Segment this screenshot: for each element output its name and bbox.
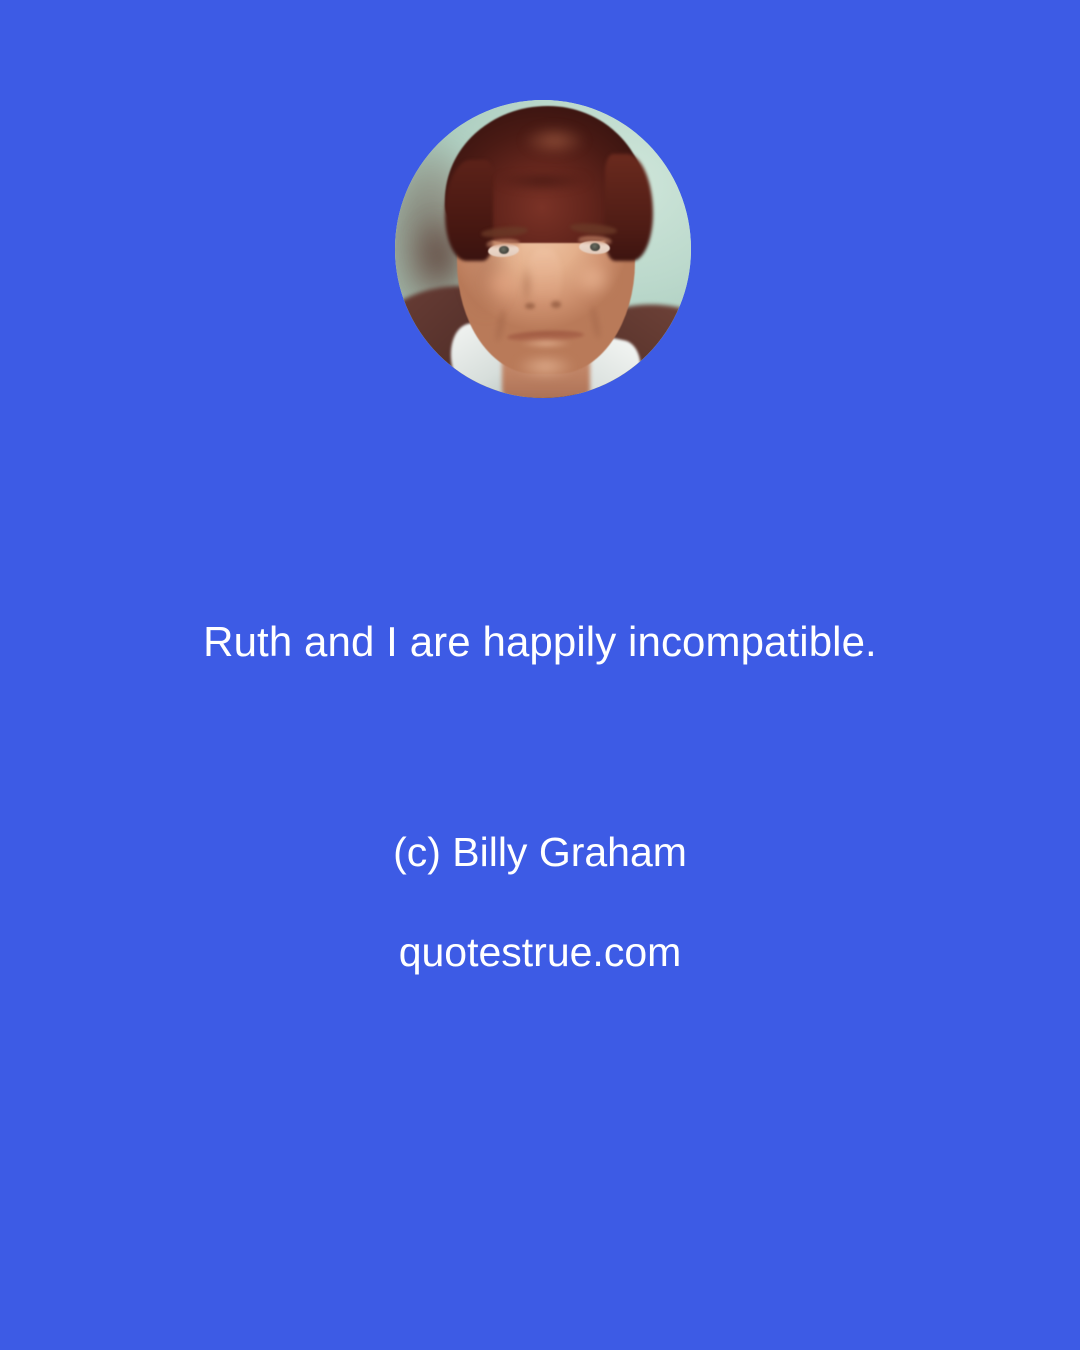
author-attribution: (c) Billy Graham [60, 826, 1020, 879]
avatar [395, 100, 691, 398]
nostril-right [551, 301, 560, 308]
nose [528, 249, 561, 309]
site-watermark: quotestrue.com [60, 926, 1020, 979]
hair-side-left [445, 160, 492, 261]
hairline [487, 175, 599, 202]
hair-highlight [513, 121, 596, 160]
iris-left [499, 246, 509, 255]
quote-text: Ruth and I are happily incompatible. [60, 614, 1020, 671]
lower-lip-highlight [513, 340, 578, 351]
iris-right [590, 243, 600, 252]
cheek-highlight-right [567, 255, 620, 303]
portrait-photo [395, 100, 691, 398]
nostril-left [525, 303, 534, 310]
quote-card: Ruth and I are happily incompatible. (c)… [0, 0, 1080, 1350]
chin [507, 356, 584, 386]
